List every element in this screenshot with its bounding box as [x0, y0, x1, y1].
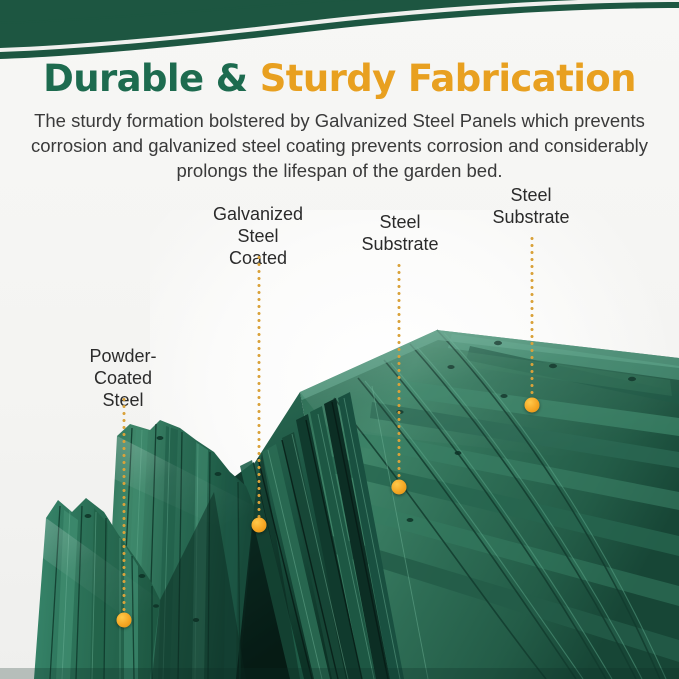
leader-line-steel-substrate-middle [398, 262, 401, 483]
leader-line-galvanized-steel-coated [258, 254, 261, 521]
leader-line-powder-coated-steel [123, 396, 126, 616]
marker-dot-steel-substrate-right [525, 398, 540, 413]
infographic-canvas: Durable & Sturdy Fabrication The sturdy … [0, 0, 679, 679]
callout-label-steel-substrate-middle: Steel Substrate [361, 211, 438, 255]
callout-label-steel-substrate-right: Steel Substrate [492, 184, 569, 228]
product-image [0, 0, 679, 679]
base-shadow [0, 668, 679, 679]
marker-dot-galvanized-steel-coated [252, 518, 267, 533]
marker-dot-powder-coated-steel [117, 613, 132, 628]
leader-line-steel-substrate-right [531, 235, 534, 401]
marker-dot-steel-substrate-middle [392, 480, 407, 495]
